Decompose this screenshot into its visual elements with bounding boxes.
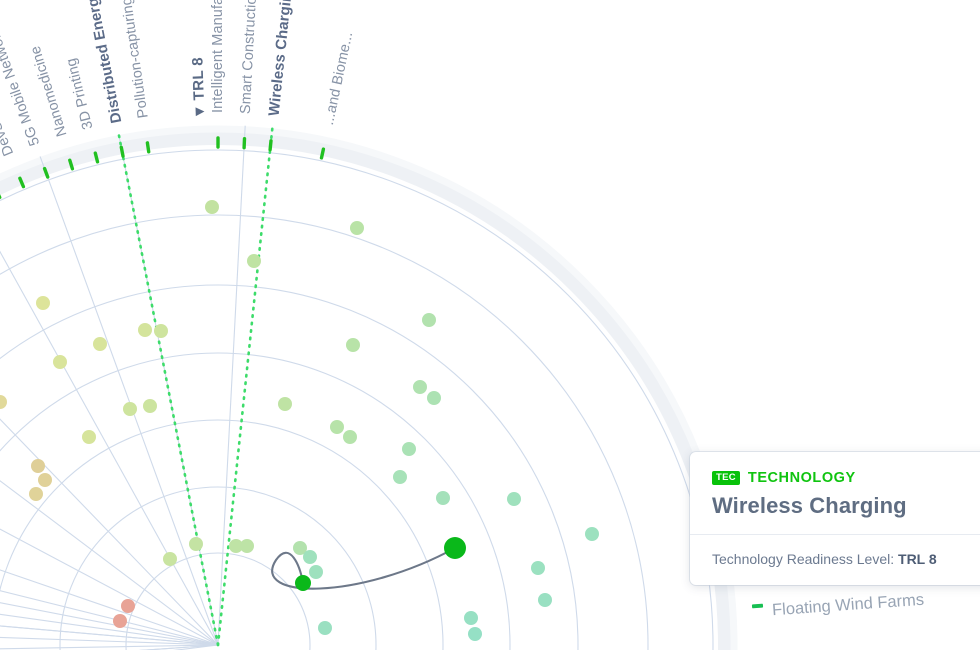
scatter-point[interactable] (413, 380, 427, 394)
scatter-point[interactable] (93, 337, 107, 351)
tooltip-trl-value: TRL 8 (898, 551, 937, 567)
scatter-point[interactable] (121, 599, 135, 613)
technology-tooltip[interactable]: TEC TECHNOLOGY Wireless Charging Technol… (690, 452, 980, 585)
highlighted-point[interactable] (444, 537, 466, 559)
scatter-point[interactable] (143, 399, 157, 413)
scatter-point[interactable] (436, 491, 450, 505)
scatter-point[interactable] (31, 459, 45, 473)
legend-item-floating-wind-farms[interactable]: Floating Wind Farms (752, 596, 924, 615)
scatter-point[interactable] (538, 593, 552, 607)
technology-radar-chart[interactable]: ...Systems...Based Healthcare...lth Moni… (0, 0, 980, 650)
scatter-point[interactable] (205, 200, 219, 214)
scatter-point[interactable] (346, 338, 360, 352)
scatter-point[interactable] (82, 430, 96, 444)
scatter-point[interactable] (278, 397, 292, 411)
scatter-point[interactable] (123, 402, 137, 416)
trl-marker-trl-8: ▼ TRL 8 (190, 57, 207, 120)
scatter-point[interactable] (53, 355, 67, 369)
outer-ring-band (0, 129, 734, 650)
scatter-point[interactable] (113, 614, 127, 628)
scatter-point[interactable] (531, 561, 545, 575)
tooltip-trl-label: Technology Readiness Level: (712, 551, 894, 567)
legend-dash-icon (752, 603, 763, 608)
tooltip-trl-row: Technology Readiness Level: TRL 8 (712, 551, 980, 567)
scatter-point[interactable] (163, 552, 177, 566)
scatter-point[interactable] (343, 430, 357, 444)
scatter-point[interactable] (154, 324, 168, 338)
scatter-point[interactable] (393, 470, 407, 484)
scatter-point[interactable] (303, 550, 317, 564)
scatter-point[interactable] (38, 473, 52, 487)
scatter-point[interactable] (29, 487, 43, 501)
tooltip-kicker: TEC TECHNOLOGY (712, 470, 980, 486)
scatter-point[interactable] (468, 627, 482, 641)
tooltip-header: TEC TECHNOLOGY Wireless Charging (690, 452, 980, 534)
scatter-point[interactable] (240, 539, 254, 553)
tooltip-category-label: TECHNOLOGY (748, 470, 856, 486)
highlighted-points[interactable] (295, 537, 466, 591)
scatter-point[interactable] (330, 420, 344, 434)
scatter-point[interactable] (350, 221, 364, 235)
scatter-point[interactable] (138, 323, 152, 337)
scatter-point[interactable] (422, 313, 436, 327)
scatter-point[interactable] (318, 621, 332, 635)
scatter-point[interactable] (402, 442, 416, 456)
highlighted-point[interactable] (295, 575, 311, 591)
highlight-wedge (119, 128, 273, 645)
scatter-points[interactable] (0, 200, 599, 641)
axis-label-26[interactable]: Intelligent Manufacturing (211, 0, 226, 113)
tooltip-body: Technology Readiness Level: TRL 8 (690, 535, 980, 585)
scatter-point[interactable] (507, 492, 521, 506)
tec-badge-icon: TEC (712, 471, 740, 485)
scatter-point[interactable] (585, 527, 599, 541)
scatter-point[interactable] (189, 537, 203, 551)
scatter-point[interactable] (0, 395, 7, 409)
scatter-point[interactable] (247, 254, 261, 268)
scatter-point[interactable] (309, 565, 323, 579)
scatter-point[interactable] (427, 391, 441, 405)
scatter-point[interactable] (464, 611, 478, 625)
tooltip-title: Wireless Charging (712, 493, 980, 518)
scatter-point[interactable] (36, 296, 50, 310)
